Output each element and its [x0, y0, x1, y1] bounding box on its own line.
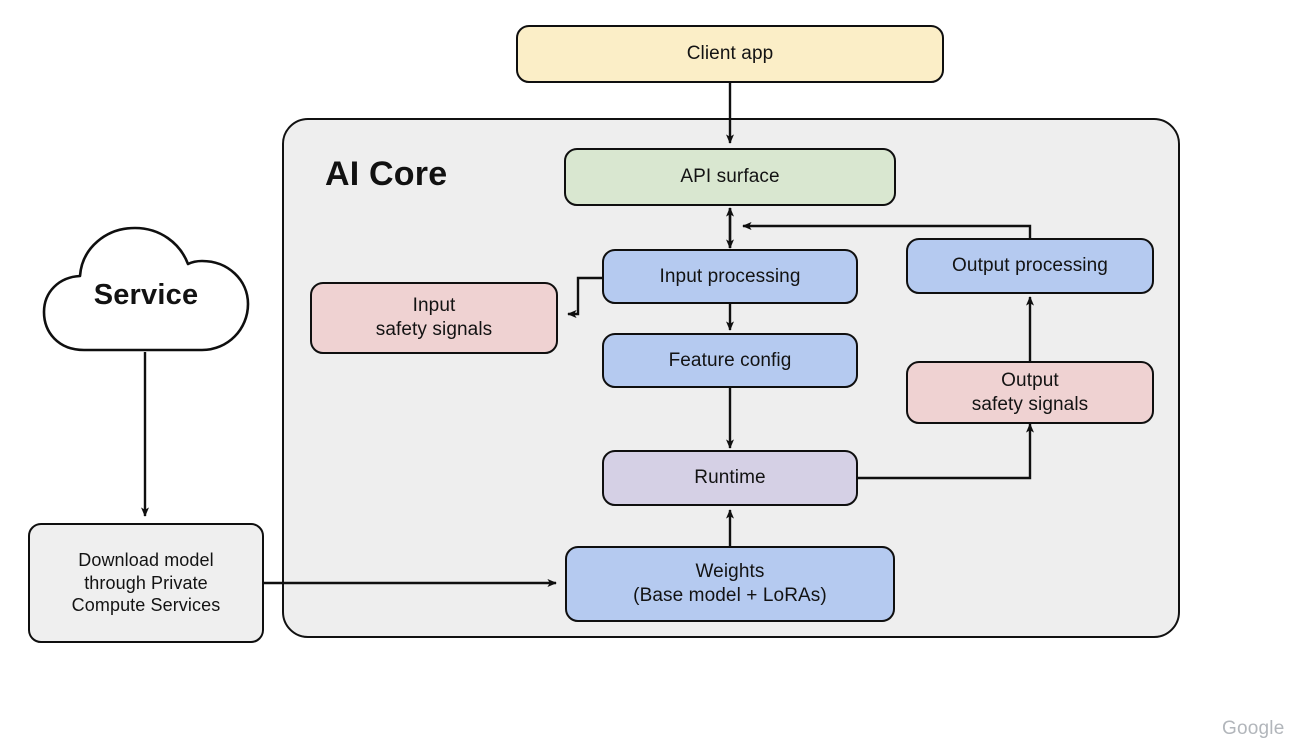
diagram-canvas: AI Core	[0, 0, 1304, 756]
node-api-surface-label: API surface	[680, 165, 779, 189]
node-input-processing[interactable]: Input processing	[602, 249, 858, 304]
node-feature-config-label: Feature config	[669, 349, 792, 373]
node-output-safety-signals-label: Output safety signals	[972, 369, 1089, 417]
node-api-surface[interactable]: API surface	[564, 148, 896, 206]
node-weights[interactable]: Weights (Base model + LoRAs)	[565, 546, 895, 622]
node-output-safety-signals[interactable]: Output safety signals	[906, 361, 1154, 424]
node-download-model[interactable]: Download model through Private Compute S…	[28, 523, 264, 643]
node-runtime-label: Runtime	[694, 466, 765, 490]
node-input-safety-signals[interactable]: Input safety signals	[310, 282, 558, 354]
node-download-model-label: Download model through Private Compute S…	[72, 549, 221, 617]
ai-core-title: AI Core	[325, 155, 447, 194]
node-output-processing-label: Output processing	[952, 254, 1108, 278]
node-weights-label: Weights (Base model + LoRAs)	[633, 560, 827, 608]
node-output-processing[interactable]: Output processing	[906, 238, 1154, 294]
node-feature-config[interactable]: Feature config	[602, 333, 858, 388]
node-client-app-label: Client app	[687, 42, 774, 66]
node-client-app[interactable]: Client app	[516, 25, 944, 83]
node-service-cloud[interactable]: Service	[40, 222, 252, 356]
node-input-safety-signals-label: Input safety signals	[376, 294, 493, 342]
node-input-processing-label: Input processing	[659, 265, 800, 289]
node-runtime[interactable]: Runtime	[602, 450, 858, 506]
google-watermark: Google	[1222, 718, 1284, 740]
node-service-cloud-label: Service	[40, 279, 252, 312]
